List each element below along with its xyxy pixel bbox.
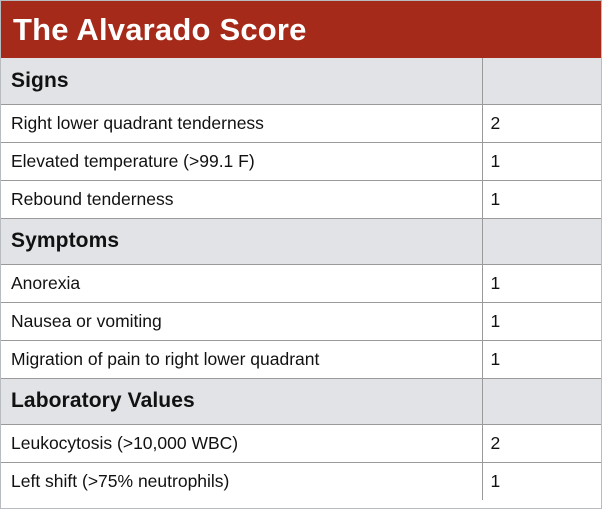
criterion-label: Anorexia — [1, 264, 482, 302]
section-heading-points-symptoms — [482, 218, 601, 264]
section-header-row: Signs — [1, 58, 601, 104]
criterion-points: 2 — [482, 104, 601, 142]
criterion-label: Nausea or vomiting — [1, 302, 482, 340]
criterion-label: Leukocytosis (>10,000 WBC) — [1, 424, 482, 462]
section-heading-points-laboratory-values — [482, 378, 601, 424]
table-row: Elevated temperature (>99.1 F) 1 — [1, 142, 601, 180]
table-row: Migration of pain to right lower quadran… — [1, 340, 601, 378]
criterion-points: 1 — [482, 264, 601, 302]
table-row: Rebound tenderness 1 — [1, 180, 601, 218]
criterion-points: 2 — [482, 424, 601, 462]
criterion-label: Rebound tenderness — [1, 180, 482, 218]
alvarado-score-card: The Alvarado Score Signs Right lower qua… — [0, 0, 602, 509]
table-row: Right lower quadrant tenderness 2 — [1, 104, 601, 142]
criterion-points: 1 — [482, 142, 601, 180]
title-band: The Alvarado Score — [1, 1, 601, 58]
criterion-points: 1 — [482, 462, 601, 500]
table-row: Left shift (>75% neutrophils) 1 — [1, 462, 601, 500]
criterion-label: Elevated temperature (>99.1 F) — [1, 142, 482, 180]
table-row: Nausea or vomiting 1 — [1, 302, 601, 340]
criterion-points: 1 — [482, 180, 601, 218]
section-heading-symptoms: Symptoms — [1, 218, 482, 264]
table-row: Leukocytosis (>10,000 WBC) 2 — [1, 424, 601, 462]
section-header-row: Symptoms — [1, 218, 601, 264]
alvarado-score-table: Signs Right lower quadrant tenderness 2 … — [1, 58, 601, 500]
section-heading-points-signs — [482, 58, 601, 104]
criterion-points: 1 — [482, 302, 601, 340]
criterion-label: Right lower quadrant tenderness — [1, 104, 482, 142]
criterion-points: 1 — [482, 340, 601, 378]
section-heading-signs: Signs — [1, 58, 482, 104]
criterion-label: Left shift (>75% neutrophils) — [1, 462, 482, 500]
table-row: Anorexia 1 — [1, 264, 601, 302]
table-body: Signs Right lower quadrant tenderness 2 … — [1, 58, 601, 500]
page-title: The Alvarado Score — [13, 14, 307, 45]
criterion-label: Migration of pain to right lower quadran… — [1, 340, 482, 378]
section-heading-laboratory-values: Laboratory Values — [1, 378, 482, 424]
section-header-row: Laboratory Values — [1, 378, 601, 424]
